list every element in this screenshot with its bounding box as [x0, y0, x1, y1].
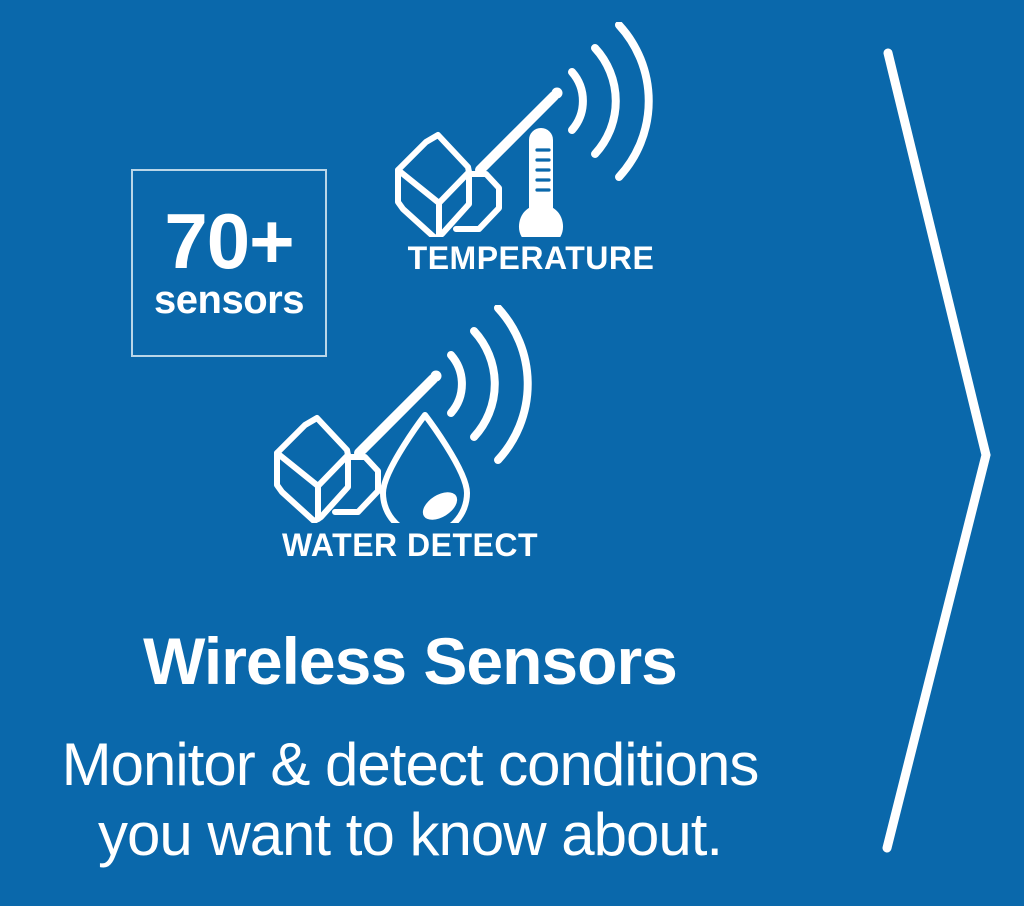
thermometer-icon: [521, 130, 561, 237]
poster-subhead-line-1: Monitor & detect conditions: [0, 730, 820, 800]
sensor-count-number: 70+: [164, 206, 293, 278]
poster-headline: Wireless Sensors: [0, 627, 820, 696]
poster-subhead: Monitor & detect conditions you want to …: [0, 730, 820, 870]
signal-waves-icon: [572, 25, 649, 177]
water-detect-sensor-illustration: [255, 305, 565, 523]
signal-waves-icon: [451, 308, 528, 460]
temperature-sensor-caption: TEMPERATURE: [376, 240, 686, 277]
temperature-sensor-group: TEMPERATURE: [376, 22, 686, 290]
chevron-right-icon: [860, 30, 1024, 880]
temperature-sensor-illustration: [376, 22, 686, 237]
water-drop-icon: [383, 415, 467, 523]
water-detect-sensor-caption: WATER DETECT: [255, 527, 565, 564]
wireless-sensors-poster: 70+ sensors: [0, 0, 1024, 906]
poster-subhead-line-2: you want to know about.: [0, 800, 820, 870]
water-detect-sensor-group: WATER DETECT: [255, 305, 565, 577]
wireless-sensor-cube-icon: [277, 371, 442, 522]
